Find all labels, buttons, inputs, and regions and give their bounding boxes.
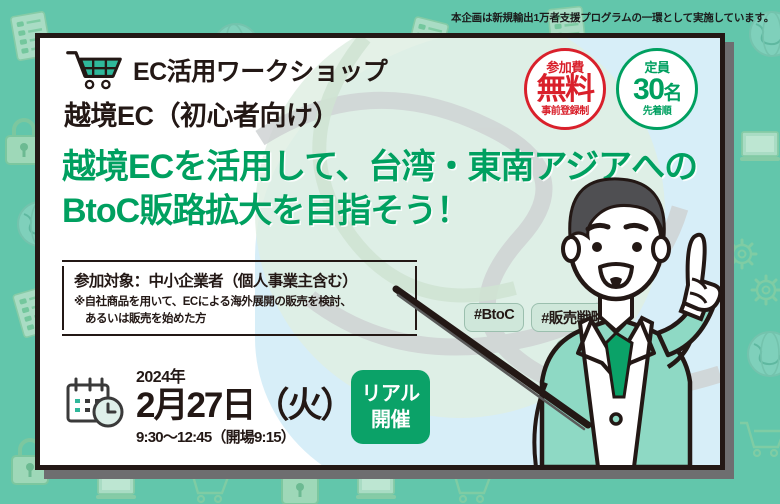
fee-badge-main: 無料 <box>537 75 594 105</box>
event-year: 2024年 <box>136 363 353 387</box>
target-audience-note: ※自社商品を用いて、ECによる海外展開の販売を検討、 あるいは販売を始めた方 <box>74 294 415 327</box>
target-note-line-1: ※自社商品を用いて、ECによる海外展開の販売を検討、 <box>74 296 351 308</box>
fee-badge: 参加費 無料 事前登録制 <box>524 48 606 130</box>
target-audience-main: 参加対象：中小企業者（個人事業主含む） <box>74 269 415 291</box>
header-row: EC活用ワークショップ <box>66 50 387 90</box>
capacity-badge-main: 30名 <box>633 75 681 105</box>
capacity-unit: 名 <box>663 83 681 104</box>
event-time: 9:30〜12:45（開場9:15） <box>136 426 353 447</box>
program-note: 本企画は新規輸出1万者支援プログラムの一環として実施しています。 <box>451 10 774 25</box>
card-inner: EC活用ワークショップ 越境EC（初心者向け） 参加費 無料 事前登録制 定員 … <box>40 38 720 465</box>
shopping-cart-icon <box>66 50 124 90</box>
poster-card: EC活用ワークショップ 越境EC（初心者向け） 参加費 無料 事前登録制 定員 … <box>35 33 725 470</box>
pointer-stick-icon <box>392 285 622 445</box>
capacity-number: 30 <box>633 73 663 106</box>
event-date-block: 2024年 2月27日（火） 9:30〜12:45（開場9:15） <box>64 363 353 447</box>
badge-group: 参加費 無料 事前登録制 定員 30名 先着順 <box>524 48 698 130</box>
target-note-line-2: あるいは販売を始めた方 <box>74 311 415 328</box>
event-day: 2月27日（火） <box>136 388 353 425</box>
poster-root: 本企画は新規輸出1万者支援プログラムの一環として実施しています。 <box>0 0 780 504</box>
fee-badge-bottom: 事前登録制 <box>541 107 589 117</box>
capacity-badge: 定員 30名 先着順 <box>616 48 698 130</box>
workshop-title: EC活用ワークショップ <box>133 52 387 88</box>
capacity-badge-bottom: 先着順 <box>643 107 672 117</box>
calendar-clock-icon <box>64 376 126 434</box>
workshop-subtitle: 越境EC（初心者向け） <box>64 94 339 133</box>
event-date-text: 2024年 2月27日（火） 9:30〜12:45（開場9:15） <box>136 363 353 447</box>
target-audience-box: 参加対象：中小企業者（個人事業主含む） ※自社商品を用いて、ECによる海外展開の… <box>62 260 417 336</box>
